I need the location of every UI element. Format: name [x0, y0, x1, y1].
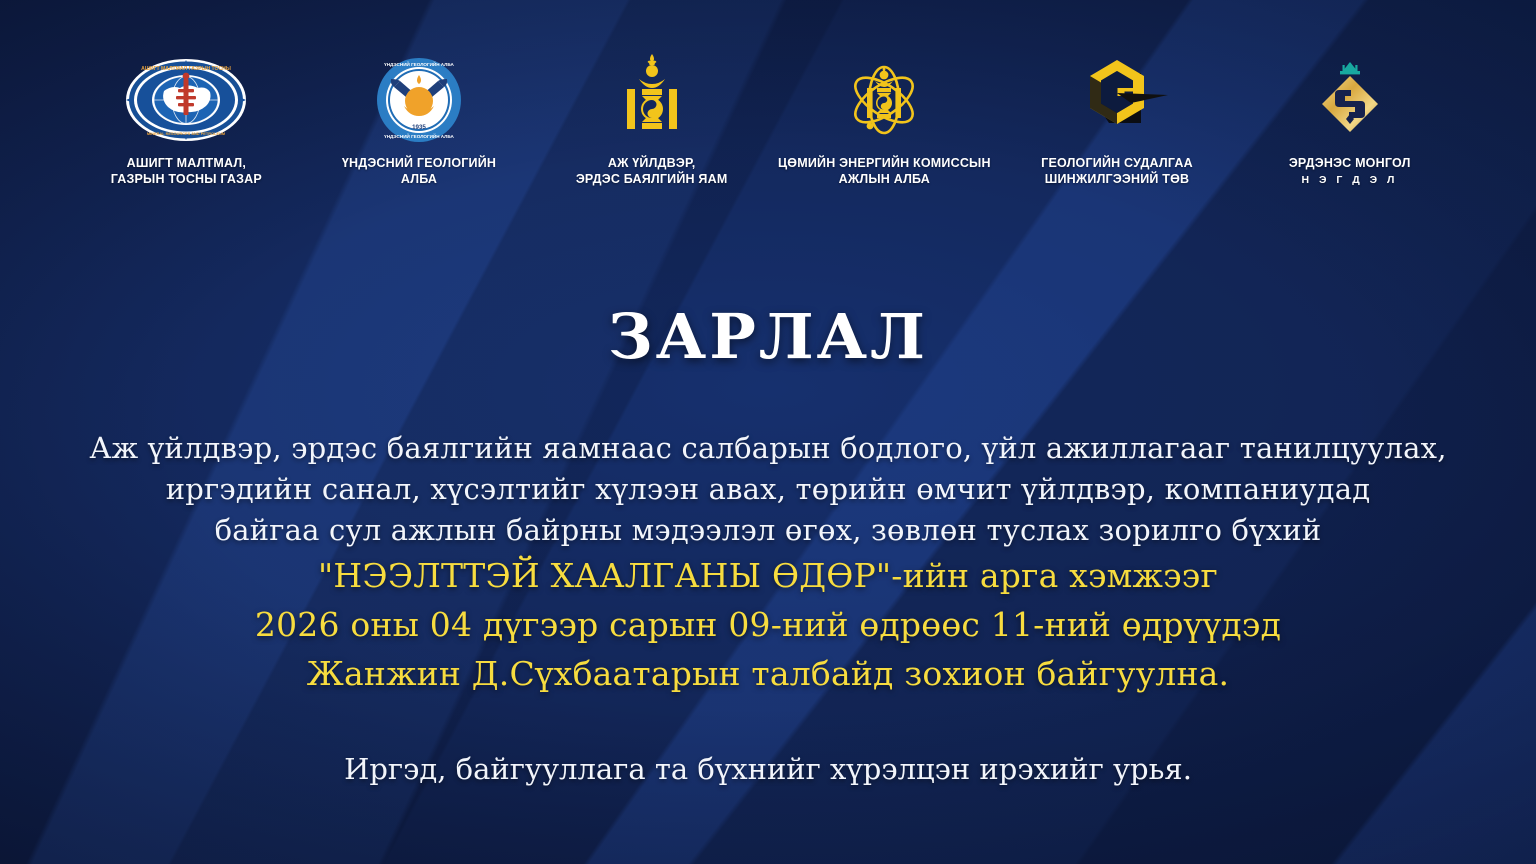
announcement-poster: АШИГТ МАЛТМАЛ ГАЗРЫН ТОСНЫ MINERAL RESOU…	[0, 0, 1536, 864]
logo-item-ministry: АЖ ҮЙЛДВЭР, ЭРДЭС БАЯЛГИЙН ЯАМ	[535, 52, 768, 187]
announcement-body: Аж үйлдвэр, эрдэс баялгийн яамнаас салба…	[0, 428, 1536, 698]
mineral-resources-oval-emblem-icon: АШИГТ МАЛТМАЛ ГАЗРЫН ТОСНЫ MINERAL RESOU…	[124, 52, 248, 148]
svg-text:MINERAL RESOURCES AND PETROLEU: MINERAL RESOURCES AND PETROLEUM	[147, 131, 225, 136]
logo-caption: АЖ ҮЙЛДВЭР, ЭРДЭС БАЯЛГИЙН ЯАМ	[576, 156, 728, 187]
closing-invitation: Иргэд, байгууллага та бүхнийг хүрэлцэн и…	[0, 752, 1536, 786]
body-line-event-name: "НЭЭЛТТЭЙ ХААЛГАНЫ ӨДӨР"-ийн арга хэмжээ…	[0, 551, 1536, 600]
erdenes-mongol-diamond-knot-icon	[1302, 52, 1398, 148]
logo-caption: ЭРДЭНЭС МОНГОЛ	[1289, 156, 1411, 172]
logo-item-mineral-resources: АШИГТ МАЛТМАЛ ГАЗРЫН ТОСНЫ MINERAL RESOU…	[70, 52, 303, 187]
logo-subcaption: Н Э Г Д Э Л	[1301, 174, 1397, 187]
partner-logo-strip: АШИГТ МАЛТМАЛ ГАЗРЫН ТОСНЫ MINERAL RESOU…	[0, 52, 1536, 187]
national-geology-circle-emblem-icon: 1935 ҮНДЭСНИЙ ГЕОЛОГИЙН АЛБА ҮНДЭСНИЙ ГЕ…	[376, 52, 462, 148]
body-line: байгаа сул ажлын байрны мэдээлэл өгөх, з…	[0, 510, 1536, 551]
logo-item-erdenes-mongol: ЭРДЭНЭС МОНГОЛ Н Э Г Д Э Л	[1233, 52, 1466, 187]
soyombo-ministry-emblem-icon	[617, 52, 687, 148]
svg-text:АШИГТ МАЛТМАЛ ГАЗРЫН ТОСНЫ: АШИГТ МАЛТМАЛ ГАЗРЫН ТОСНЫ	[141, 66, 231, 72]
svg-text:ҮНДЭСНИЙ ГЕОЛОГИЙН АЛБА: ҮНДЭСНИЙ ГЕОЛОГИЙН АЛБА	[384, 132, 454, 139]
logo-item-national-geology: 1935 ҮНДЭСНИЙ ГЕОЛОГИЙН АЛБА ҮНДЭСНИЙ ГЕ…	[303, 52, 536, 187]
logo-caption: ЦӨМИЙН ЭНЕРГИЙН КОМИССЫН АЖЛЫН АЛБА	[778, 156, 991, 187]
body-line: иргэдийн санал, хүсэлтийг хүлээн авах, т…	[0, 469, 1536, 510]
body-line-event-date: 2026 оны 04 дүгээр сарын 09-ний өдрөөс 1…	[0, 600, 1536, 649]
nuclear-energy-atom-emblem-icon	[838, 52, 930, 148]
page-title: ЗАРЛАЛ	[0, 300, 1536, 373]
logo-item-nuclear-energy: ЦӨМИЙН ЭНЕРГИЙН КОМИССЫН АЖЛЫН АЛБА	[768, 52, 1001, 187]
logo-item-geology-research: ГЕОЛОГИЙН СУДАЛГАА ШИНЖИЛГЭЭНИЙ ТӨВ	[1001, 52, 1234, 187]
svg-text:1935: 1935	[412, 124, 426, 131]
logo-caption: ГЕОЛОГИЙН СУДАЛГАА ШИНЖИЛГЭЭНИЙ ТӨВ	[1041, 156, 1193, 187]
body-line: Аж үйлдвэр, эрдэс баялгийн яамнаас салба…	[0, 428, 1536, 469]
geology-research-hexagon-g-icon	[1065, 52, 1169, 148]
logo-caption: АШИГТ МАЛТМАЛ, ГАЗРЫН ТОСНЫ ГАЗАР	[111, 156, 262, 187]
body-line-event-location: Жанжин Д.Сүхбаатарын талбайд зохион байг…	[0, 649, 1536, 698]
svg-text:ҮНДЭСНИЙ ГЕОЛОГИЙН АЛБА: ҮНДЭСНИЙ ГЕОЛОГИЙН АЛБА	[384, 60, 454, 67]
logo-caption: ҮНДЭСНИЙ ГЕОЛОГИЙН АЛБА	[342, 156, 496, 187]
